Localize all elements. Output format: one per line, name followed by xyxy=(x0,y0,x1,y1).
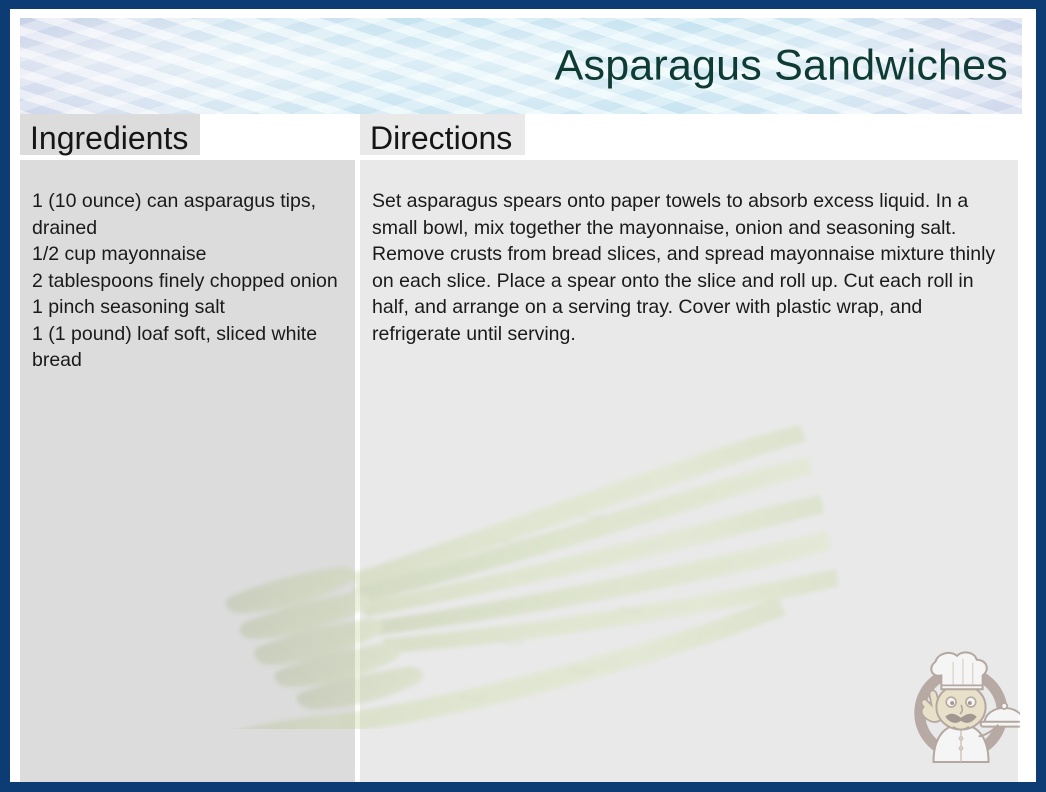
list-item: 1 (1 pound) loaf soft, sliced white brea… xyxy=(32,321,343,374)
ingredients-panel: Ingredients 1 (10 ounce) can asparagus t… xyxy=(20,114,355,782)
ingredients-body: 1 (10 ounce) can asparagus tips, drained… xyxy=(20,160,355,782)
ingredients-heading: Ingredients xyxy=(30,122,188,154)
directions-panel: Directions Set asparagus spears onto pap… xyxy=(360,114,1018,782)
page-title: Asparagus Sandwiches xyxy=(555,43,1008,88)
title-banner: Asparagus Sandwiches xyxy=(20,18,1022,114)
recipe-slide: Asparagus Sandwiches Ingredients 1 (10 o… xyxy=(0,0,1046,792)
directions-paragraph: Set asparagus spears onto paper towels t… xyxy=(372,188,1006,347)
slide-page: Asparagus Sandwiches Ingredients 1 (10 o… xyxy=(10,9,1036,782)
content-columns: Ingredients 1 (10 ounce) can asparagus t… xyxy=(10,114,1036,782)
ingredients-list: 1 (10 ounce) can asparagus tips, drained… xyxy=(32,188,343,374)
directions-header-tab: Directions xyxy=(360,114,525,155)
list-item: 1 (10 ounce) can asparagus tips, drained xyxy=(32,188,343,241)
list-item: 1/2 cup mayonnaise xyxy=(32,241,343,268)
directions-body: Set asparagus spears onto paper towels t… xyxy=(360,160,1018,782)
ingredients-header-tab: Ingredients xyxy=(20,114,200,155)
list-item: 1 pinch seasoning salt xyxy=(32,294,343,321)
list-item: 2 tablespoons finely chopped onion xyxy=(32,268,343,295)
directions-heading: Directions xyxy=(370,122,512,154)
